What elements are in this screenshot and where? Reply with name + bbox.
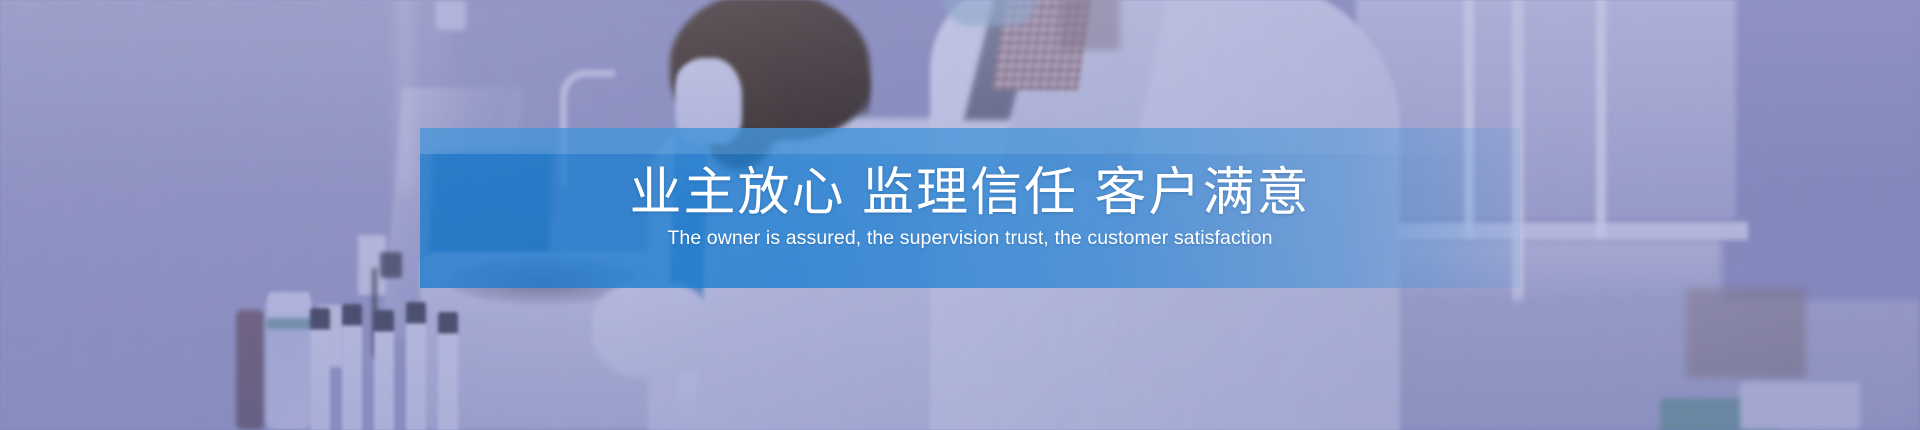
caption-block: 业主放心 监理信任 客户满意 The owner is assured, the… <box>420 128 1520 288</box>
banner-subheadline: The owner is assured, the supervision tr… <box>667 227 1272 250</box>
banner-headline: 业主放心 监理信任 客户满意 <box>630 165 1311 221</box>
hero-banner: 业主放心 监理信任 客户满意 The owner is assured, the… <box>0 0 1920 430</box>
